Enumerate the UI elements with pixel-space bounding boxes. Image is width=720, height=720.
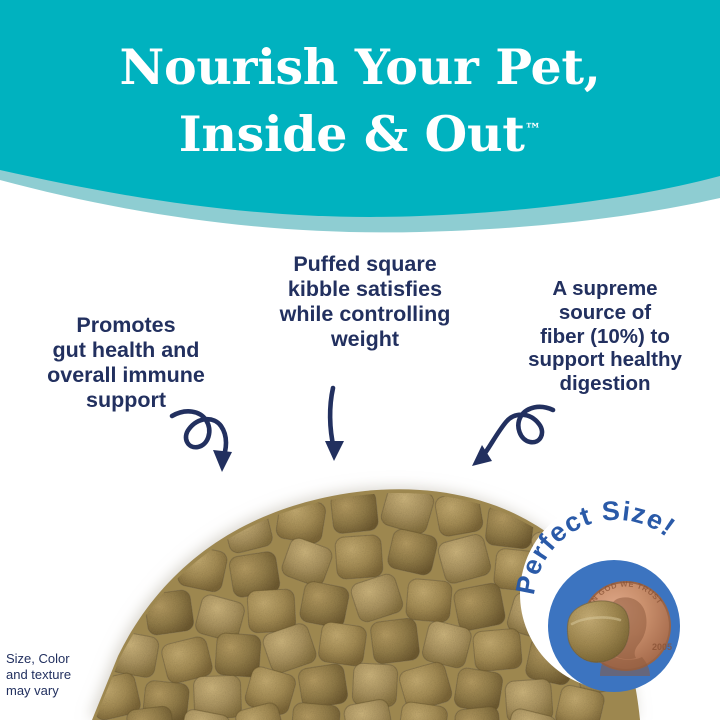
header-banner: Nourish Your Pet, Inside & Out™ xyxy=(0,0,720,240)
callout-fiber: A supreme source of fiber (10%) to suppo… xyxy=(500,277,710,396)
callout-gut-health: Promotes gut health and overall immune s… xyxy=(12,313,240,413)
callout-puffed-square: Puffed square kibble satisfies while con… xyxy=(252,252,478,352)
callout-gut-health-line-1: Promotes xyxy=(12,313,240,338)
callout-puffed-square-line-4: weight xyxy=(252,327,478,352)
perfect-size-badge: Perfect Size! IN GOD WE TRUST 2005 xyxy=(512,498,720,708)
perfect-size-badge-graphic: Perfect Size! IN GOD WE TRUST 2005 xyxy=(512,498,720,708)
trademark-symbol: ™ xyxy=(525,119,542,139)
callout-fiber-line-1: A supreme xyxy=(500,277,710,301)
badge-kibble-piece xyxy=(567,601,629,663)
penny-year: 2005 xyxy=(652,642,672,652)
callout-gut-health-line-4: support xyxy=(12,388,240,413)
page-title: Nourish Your Pet, Inside & Out™ xyxy=(0,36,720,165)
callout-gut-health-line-3: overall immune xyxy=(12,363,240,388)
promo-graphic: Nourish Your Pet, Inside & Out™ xyxy=(0,0,720,720)
callout-fiber-line-3: fiber (10%) to xyxy=(500,325,710,349)
title-line-1: Nourish Your Pet, xyxy=(0,36,720,98)
disclaimer-text: Size, Color and texture may vary xyxy=(6,651,146,699)
callout-puffed-square-line-2: kibble satisfies xyxy=(252,277,478,302)
callout-gut-health-line-2: gut health and xyxy=(12,338,240,363)
title-line-2: Inside & Out™ xyxy=(0,98,720,165)
disclaimer-line-2: and texture xyxy=(6,667,146,683)
callout-fiber-line-2: source of xyxy=(500,301,710,325)
title-line-2-text: Inside & Out xyxy=(179,105,525,163)
disclaimer-line-1: Size, Color xyxy=(6,651,146,667)
callout-fiber-line-5: digestion xyxy=(500,372,710,396)
disclaimer-line-3: may vary xyxy=(6,683,146,699)
callout-puffed-square-line-3: while controlling xyxy=(252,302,478,327)
callout-puffed-square-line-1: Puffed square xyxy=(252,252,478,277)
callout-fiber-line-4: support healthy xyxy=(500,348,710,372)
